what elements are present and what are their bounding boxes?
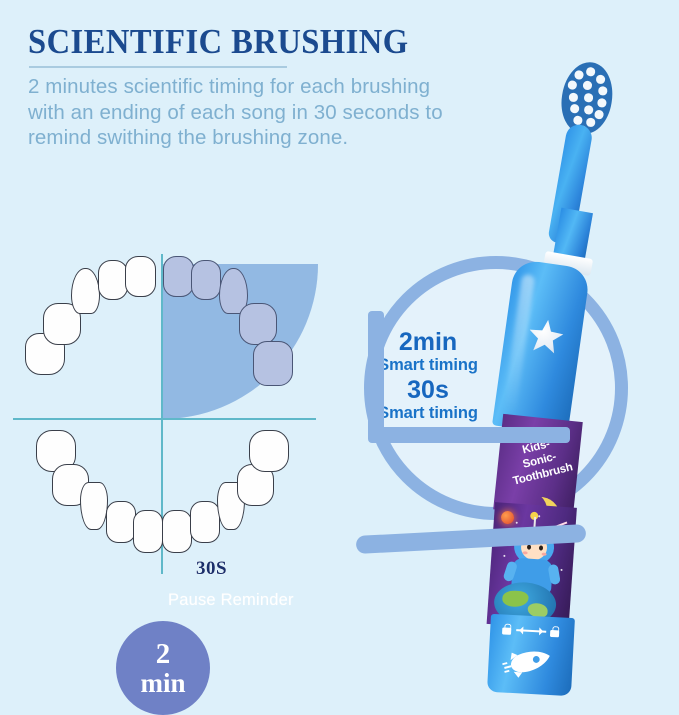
page-title: SCIENTIFIC BRUSHING [28,22,409,62]
tooth-upper-right-4 [239,303,277,345]
handle-top-section [492,259,591,436]
toothbrush-product-image: Kids- Sonic- Toothbrush [415,50,615,679]
tooth-upper-left-3 [71,268,100,314]
planet-icon [501,511,515,525]
title-divider [29,66,287,68]
brush-head-bristles [557,59,618,138]
infographic-canvas: SCIENTIFIC BRUSHING 2 minutes scientific… [0,0,679,679]
pause-reminder-label: Pause Reminder [168,591,294,610]
total-time-number: 2 [156,640,171,668]
lock-icon-right [550,626,560,637]
quadrant-time-label: 30S [196,558,227,580]
tooth-lower-right-2 [190,501,220,543]
brush-holder-vertical [368,311,384,441]
handle-space-scene [487,502,577,629]
tooth-upper-right-5 [253,341,293,386]
tooth-lower-right-5 [249,430,289,472]
double-arrow-icon [516,629,546,633]
tooth-lower-left-5 [133,510,163,553]
tooth-upper-right-1 [163,256,194,297]
teeth-diagram: 30S Pause Reminder 2 min [0,248,340,593]
tooth-lower-right-1 [162,510,192,553]
brush-holder-horizontal [368,427,570,443]
tooth-lower-left-4 [106,501,136,543]
tooth-upper-left-4 [98,260,128,300]
rocket-icon [500,643,555,681]
diagram-axis-horizontal [13,418,316,420]
lock-indicator-row [502,623,561,642]
tooth-upper-right-2 [191,260,221,300]
star-power-button[interactable] [527,318,565,355]
total-time-badge: 2 min [116,621,210,715]
handle-base-cap [487,614,575,696]
lock-icon-left [502,623,512,634]
tooth-upper-left-5 [125,256,156,297]
tooth-lower-left-3 [80,482,108,530]
total-time-unit: min [140,670,185,696]
